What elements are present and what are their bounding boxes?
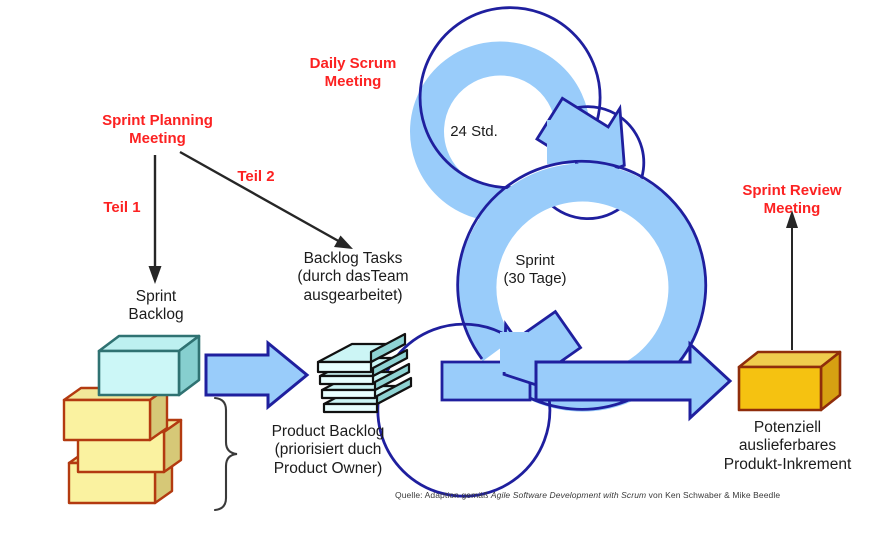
block-arrow-right-icon	[206, 343, 307, 407]
paper-stack-icon	[318, 334, 411, 412]
label-daily-scrum-meeting: Daily Scrum Meeting	[283, 55, 423, 90]
label-sprint-review-meeting: Sprint Review Meeting	[722, 182, 862, 217]
cyan-3d-box-icon	[99, 336, 199, 395]
label-sprint-backlog: Sprint Backlog	[96, 288, 216, 325]
label-cycle-sprint: Sprint (30 Tage)	[470, 252, 600, 287]
label-cycle-24h: 24 Std.	[419, 123, 529, 141]
label-teil-2: Teil 2	[228, 168, 284, 186]
down-arrow-icon	[149, 155, 162, 284]
scrum-diagram: Sprint Planning Meeting Daily Scrum Meet…	[0, 0, 885, 543]
circular-arrow-sprint-icon	[378, 161, 706, 496]
diagonal-arrow-icon	[180, 152, 353, 249]
gold-3d-box-icon	[739, 352, 840, 410]
label-teil-1: Teil 1	[94, 199, 150, 217]
credit-book-title: Agile Software Development with Scrum	[491, 490, 646, 500]
label-sprint-planning-meeting: Sprint Planning Meeting	[75, 112, 240, 147]
label-backlog-tasks: Backlog Tasks (durch dasTeam ausgearbeit…	[268, 250, 438, 305]
yellow-3d-box-stack-icon	[64, 388, 181, 503]
curly-brace-icon	[215, 398, 237, 510]
label-product-backlog: Product Backlog (priorisiert duch Produc…	[238, 423, 418, 478]
source-credit: Quelle: Adaption gemäß Agile Software De…	[395, 490, 780, 500]
credit-suffix: von Ken Schwaber & Mike Beedle	[646, 490, 780, 500]
credit-prefix: Quelle: Adaption gemäß	[395, 490, 491, 500]
label-product-increment: Potenziell auslieferbares Produkt-Inkrem…	[690, 419, 885, 474]
up-arrow-icon	[786, 210, 798, 350]
